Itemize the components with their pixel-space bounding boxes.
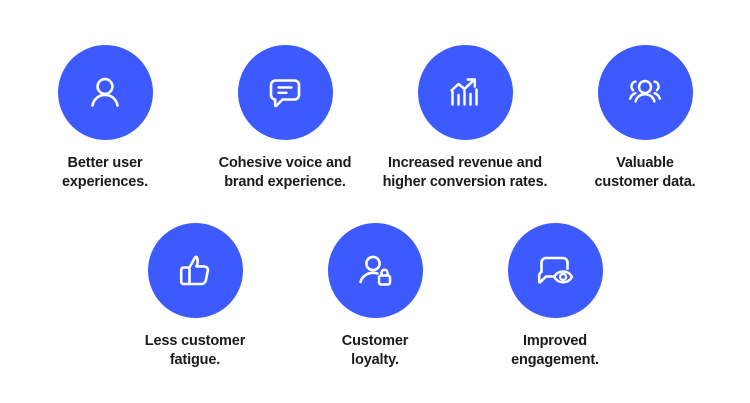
feature-label: Less customer fatigue. xyxy=(145,332,245,371)
feature-item-valuable-customer-data[interactable]: Valuable customer data. xyxy=(560,45,730,193)
feature-icon-badge xyxy=(148,223,243,318)
chat-bubble-eye-icon xyxy=(532,248,578,294)
feature-label: Valuable customer data. xyxy=(594,154,695,193)
feature-item-increased-revenue[interactable]: Increased revenue and higher conversion … xyxy=(380,45,550,193)
feature-item-improved-engagement[interactable]: Improved engagement. xyxy=(470,223,640,371)
feature-label: Better user experiences. xyxy=(62,154,148,193)
chat-bubble-icon xyxy=(262,70,308,116)
thumbs-up-icon xyxy=(172,248,218,294)
feature-icon-badge xyxy=(508,223,603,318)
feature-item-less-customer-fatigue[interactable]: Less customer fatigue. xyxy=(110,223,280,371)
feature-label: Customer loyalty. xyxy=(342,332,408,371)
features-board: Better user experiences. Cohesive voice … xyxy=(0,0,750,403)
feature-icon-badge xyxy=(58,45,153,140)
user-group-icon xyxy=(622,70,668,116)
feature-icon-badge xyxy=(328,223,423,318)
user-lock-icon xyxy=(352,248,398,294)
feature-item-cohesive-voice[interactable]: Cohesive voice and brand experience. xyxy=(200,45,370,193)
user-icon xyxy=(82,70,128,116)
feature-label: Increased revenue and higher conversion … xyxy=(383,154,548,193)
feature-item-better-user-experiences[interactable]: Better user experiences. xyxy=(20,45,190,193)
feature-icon-badge xyxy=(238,45,333,140)
feature-item-customer-loyalty[interactable]: Customer loyalty. xyxy=(290,223,460,371)
feature-label: Cohesive voice and brand experience. xyxy=(219,154,352,193)
feature-icon-badge xyxy=(598,45,693,140)
feature-icon-badge xyxy=(418,45,513,140)
bar-chart-growth-icon xyxy=(442,70,488,116)
feature-label: Improved engagement. xyxy=(511,332,599,371)
